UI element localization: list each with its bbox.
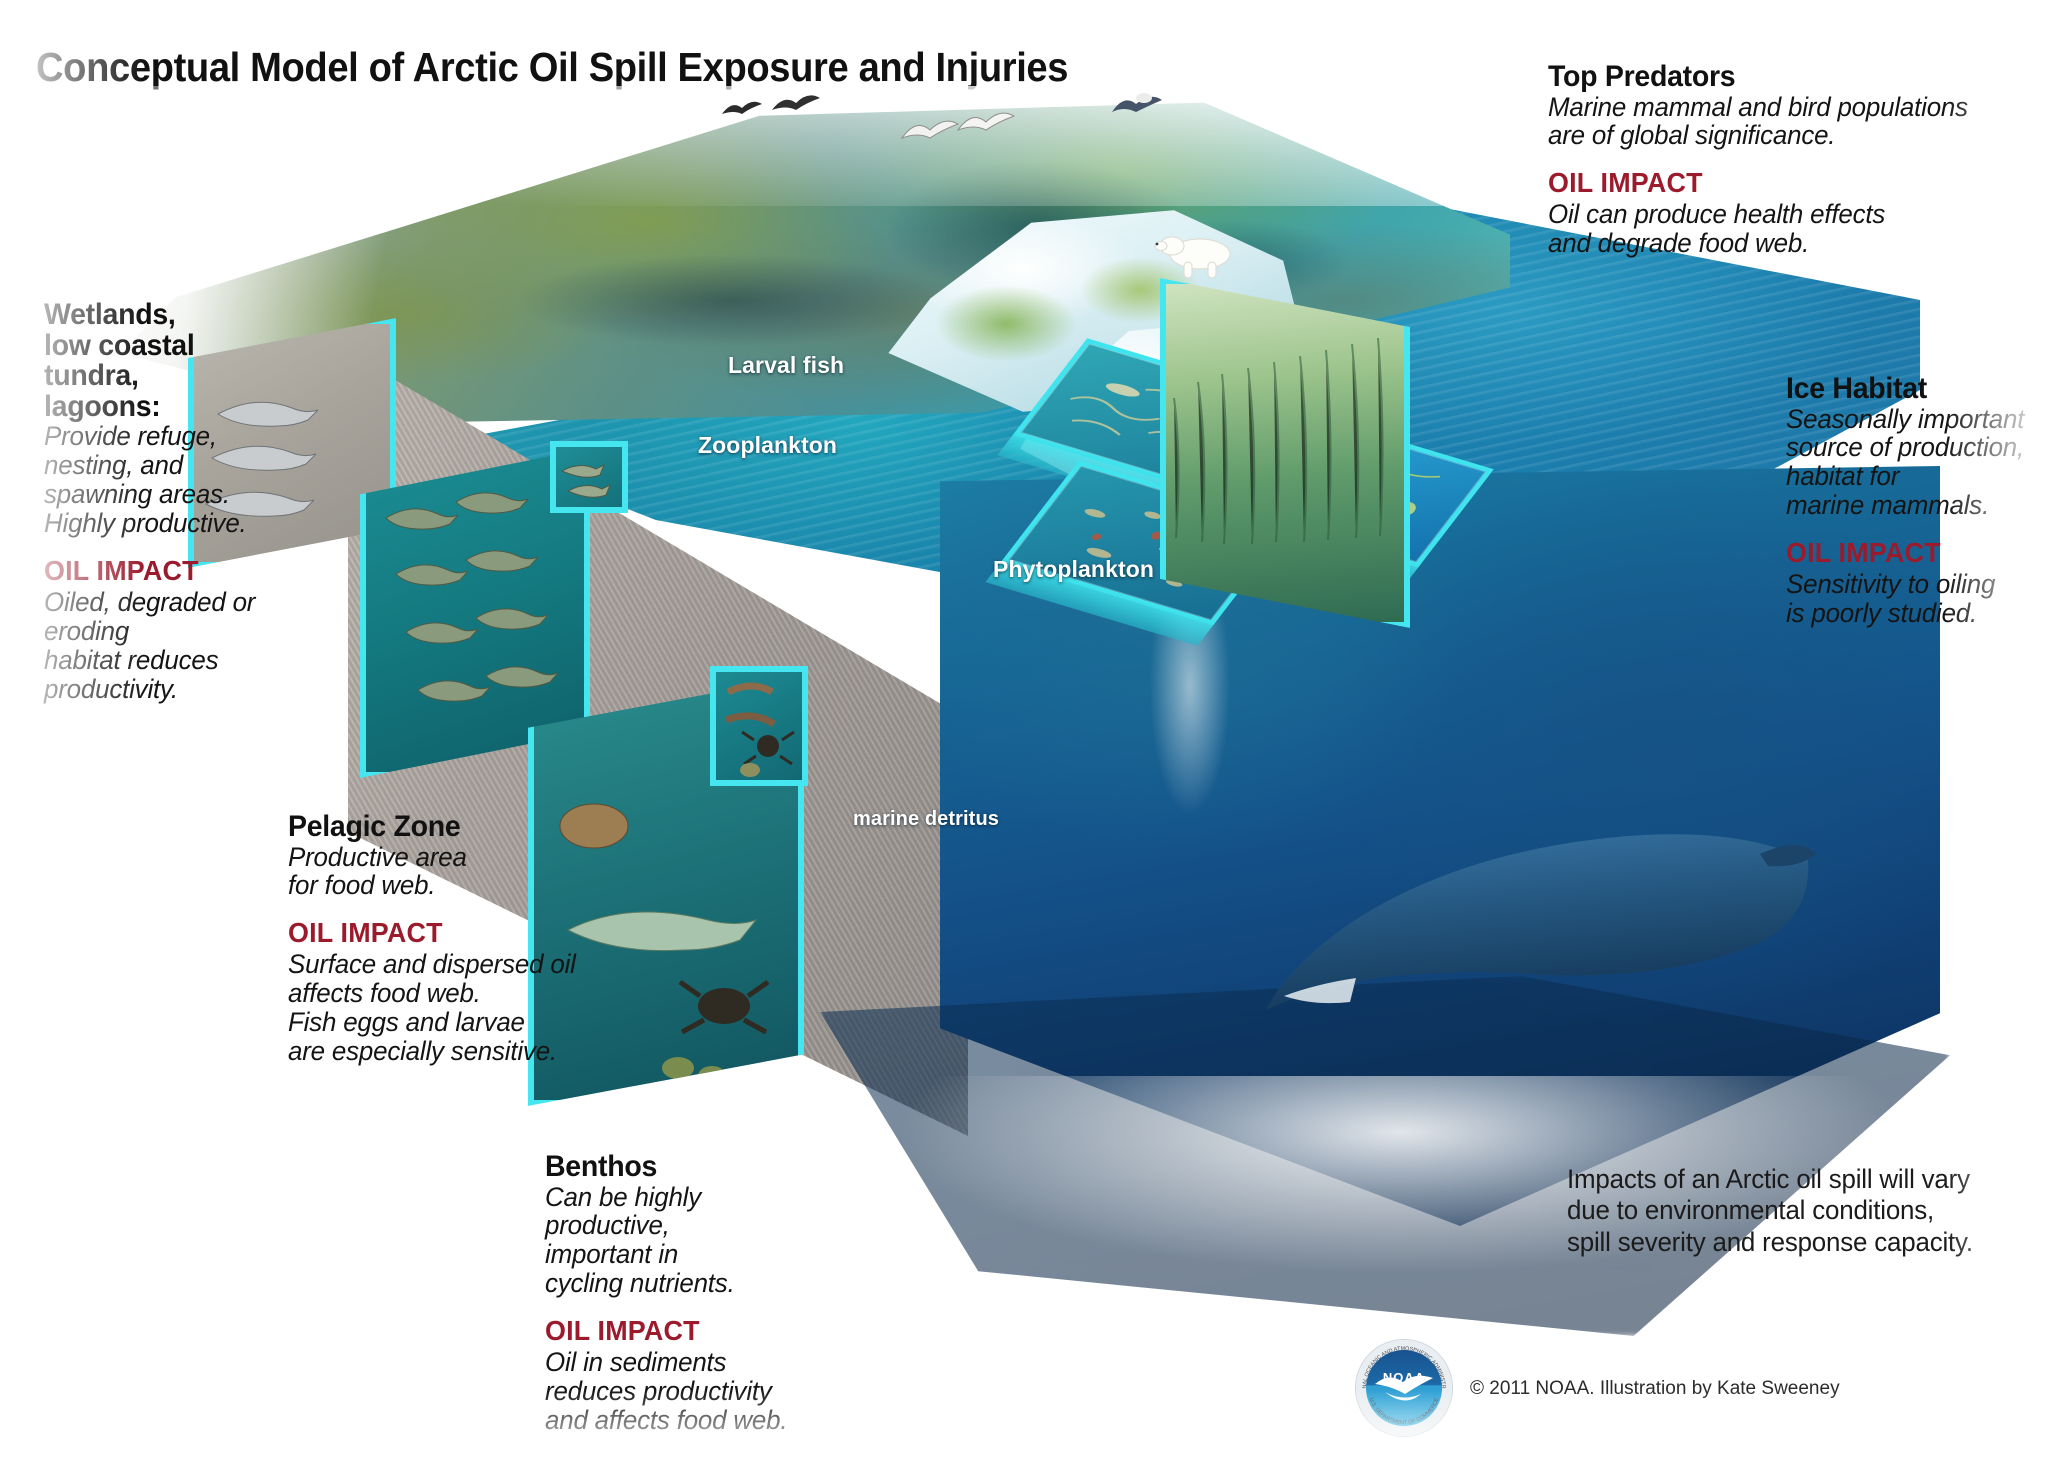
ice-habitat-oil-impact-text: Sensitivity to oiling is poorly studied. — [1786, 570, 2038, 628]
wetlands-heading: Wetlands, low coastal tundra, lagoons: — [44, 300, 329, 422]
gull-icon — [900, 112, 960, 146]
gull-icon — [956, 104, 1016, 138]
pelagic-oil-impact-text: Surface and dispersed oil affects food w… — [288, 950, 595, 1066]
pelagic-detail-inset[interactable] — [550, 441, 628, 513]
textblock-wetlands: Wetlands, low coastal tundra, lagoons: P… — [44, 300, 344, 703]
top-predators-heading: Top Predators — [1548, 62, 1995, 93]
top-predators-description: Marine mammal and bird populations are o… — [1548, 93, 1999, 151]
page-title: Conceptual Model of Arctic Oil Spill Exp… — [36, 44, 1068, 91]
textblock-ice-habitat: Ice Habitat Seasonally important source … — [1786, 374, 2048, 628]
noaa-seal-ring-text: NATIONAL OCEANIC AND ATMOSPHERIC ADMINIS… — [1356, 1340, 1452, 1436]
pelagic-heading: Pelagic Zone — [288, 812, 592, 843]
benthos-oil-impact-label: OIL IMPACT — [545, 1315, 852, 1347]
ice-habitat-inset-panel[interactable] — [1160, 278, 1410, 628]
pelagic-description: Productive area for food web. — [288, 843, 595, 901]
textblock-benthos: Benthos Can be highly productive, import… — [545, 1152, 865, 1435]
benthos-description: Can be highly productive, important in c… — [545, 1183, 852, 1299]
bowhead-whale-icon — [1260, 796, 1820, 1106]
bird-icon — [720, 96, 764, 122]
benthos-detail-inset[interactable] — [710, 666, 808, 786]
ice-habitat-description: Seasonally important source of productio… — [1786, 405, 2038, 521]
infographic-canvas: Conceptual Model of Arctic Oil Spill Exp… — [0, 0, 2048, 1463]
label-phytoplankton: Phytoplankton — [993, 556, 1154, 583]
pelagic-oil-impact-label: OIL IMPACT — [288, 917, 595, 949]
textblock-top-predators: Top Predators Marine mammal and bird pop… — [1548, 62, 2018, 258]
wetlands-oil-impact-text: Oiled, degraded or eroding habitat reduc… — [44, 588, 332, 704]
top-predators-oil-impact-label: OIL IMPACT — [1548, 167, 1999, 199]
worm-and-clam-icons — [710, 666, 808, 786]
ice-habitat-heading: Ice Habitat — [1786, 374, 2035, 405]
polar-bear-icon — [1150, 208, 1246, 288]
wetlands-oil-impact-label: OIL IMPACT — [44, 555, 332, 587]
benthos-heading: Benthos — [545, 1152, 849, 1183]
closing-note: Impacts of an Arctic oil spill will vary… — [1567, 1164, 1973, 1258]
label-zooplankton: Zooplankton — [698, 432, 837, 459]
noaa-logo: NOAA NATIONAL OCEANIC AND ATMOSPHERIC AD… — [1356, 1340, 1452, 1436]
textblock-pelagic-zone: Pelagic Zone Productive area for food we… — [288, 812, 608, 1066]
benthos-oil-impact-text: Oil in sediments reduces productivity an… — [545, 1348, 852, 1435]
top-predators-oil-impact-text: Oil can produce health effects and degra… — [1548, 200, 1999, 258]
label-larval-fish: Larval fish — [728, 352, 844, 379]
svg-text:U.S. DEPARTMENT OF COMMERCE: U.S. DEPARTMENT OF COMMERCE — [1368, 1397, 1441, 1426]
small-fish-icons — [550, 441, 628, 513]
dark-gull-icon — [1110, 88, 1162, 122]
ice-habitat-oil-impact-label: OIL IMPACT — [1786, 537, 2038, 569]
copyright-credit: © 2011 NOAA. Illustration by Kate Sweene… — [1470, 1378, 1840, 1400]
ice-algae-strands — [1160, 278, 1410, 628]
bird-icon — [770, 88, 822, 118]
svg-text:NATIONAL OCEANIC AND ATMOSPHER: NATIONAL OCEANIC AND ATMOSPHERIC ADMINIS… — [1356, 1340, 1446, 1389]
label-marine-detritus: marine detritus — [853, 808, 999, 831]
wetlands-description: Provide refuge, nesting, and spawning ar… — [44, 422, 332, 538]
